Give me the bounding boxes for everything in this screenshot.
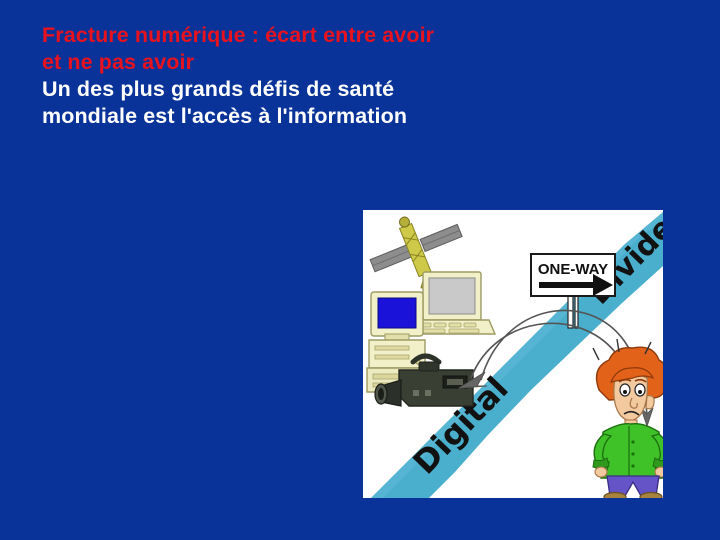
title-line-4: mondiale est l'accès à l'information bbox=[42, 103, 642, 130]
digital-divide-illustration: Divide Digital bbox=[363, 210, 663, 498]
one-way-sign-label: ONE-WAY bbox=[538, 261, 608, 278]
title-line-1: Fracture numérique : écart entre avoir bbox=[42, 22, 642, 49]
page-title: Fracture numérique : écart entre avoir e… bbox=[42, 22, 642, 130]
title-line-3: Un des plus grands défis de santé bbox=[42, 76, 642, 103]
slide-root: Fracture numérique : écart entre avoir e… bbox=[0, 0, 720, 540]
title-line-2: et ne pas avoir bbox=[42, 49, 642, 76]
